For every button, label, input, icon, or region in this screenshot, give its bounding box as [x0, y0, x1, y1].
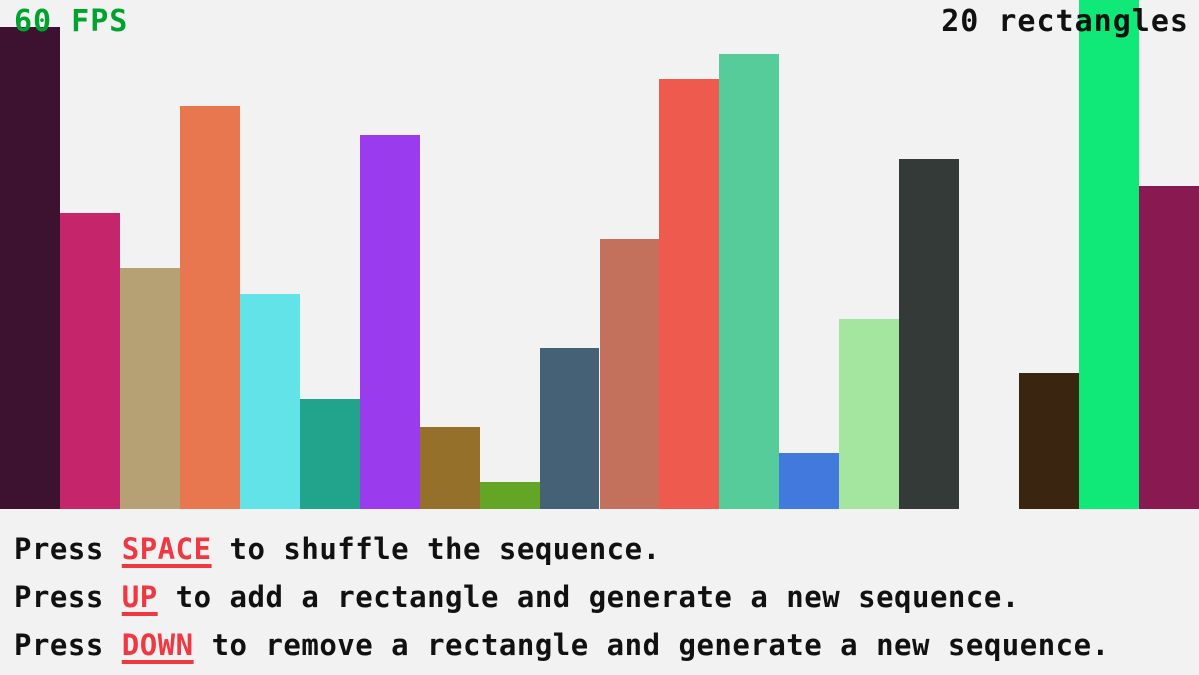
bar-6-teal: [300, 399, 360, 509]
instruction-suffix: to shuffle the sequence.: [212, 532, 661, 566]
bar-7-violet: [360, 135, 420, 509]
instruction-line-2: Press UP to add a rectangle and generate…: [14, 573, 1199, 621]
instruction-suffix: to remove a rectangle and generate a new…: [194, 628, 1110, 662]
bar-15-light-green: [839, 319, 899, 509]
instruction-line-3: Press DOWN to remove a rectangle and gen…: [14, 621, 1199, 669]
bar-5-cyan: [240, 294, 300, 509]
fps-counter: 60 FPS: [14, 7, 128, 37]
bar-2-crimson: [60, 213, 120, 509]
bar-9-olive-green: [480, 482, 540, 509]
bar-12-red: [659, 79, 719, 509]
key-hint-down[interactable]: DOWN: [122, 628, 194, 662]
instruction-line-1: Press SPACE to shuffle the sequence.: [14, 525, 1199, 573]
bar-1-dark-plum: [0, 27, 60, 509]
rectangle-chart-canvas[interactable]: [0, 0, 1199, 509]
key-hint-up[interactable]: UP: [122, 580, 158, 614]
bar-14-blue: [779, 453, 839, 509]
app-root: 60 FPS 20 rectangles Press SPACE to shuf…: [0, 0, 1199, 675]
bar-11-brick: [600, 239, 660, 509]
instructions-panel: Press SPACE to shuffle the sequence.Pres…: [0, 511, 1199, 675]
bar-20-dark-magenta: [1139, 186, 1199, 509]
bar-3-tan: [120, 268, 180, 509]
bar-10-steel-blue: [540, 348, 600, 509]
instruction-suffix: to add a rectangle and generate a new se…: [158, 580, 1020, 614]
bar-19-spring-green: [1079, 0, 1139, 509]
bar-16-charcoal: [899, 159, 959, 509]
instruction-prefix: Press: [14, 628, 122, 662]
bar-8-brown-gold: [420, 427, 480, 509]
bar-4-orange: [180, 106, 240, 509]
instruction-prefix: Press: [14, 580, 122, 614]
rectangle-count-label: 20 rectangles: [941, 7, 1189, 37]
instruction-prefix: Press: [14, 532, 122, 566]
key-hint-space[interactable]: SPACE: [122, 532, 212, 566]
bar-13-mint: [719, 54, 779, 509]
bar-18-dark-brown: [1019, 373, 1079, 509]
